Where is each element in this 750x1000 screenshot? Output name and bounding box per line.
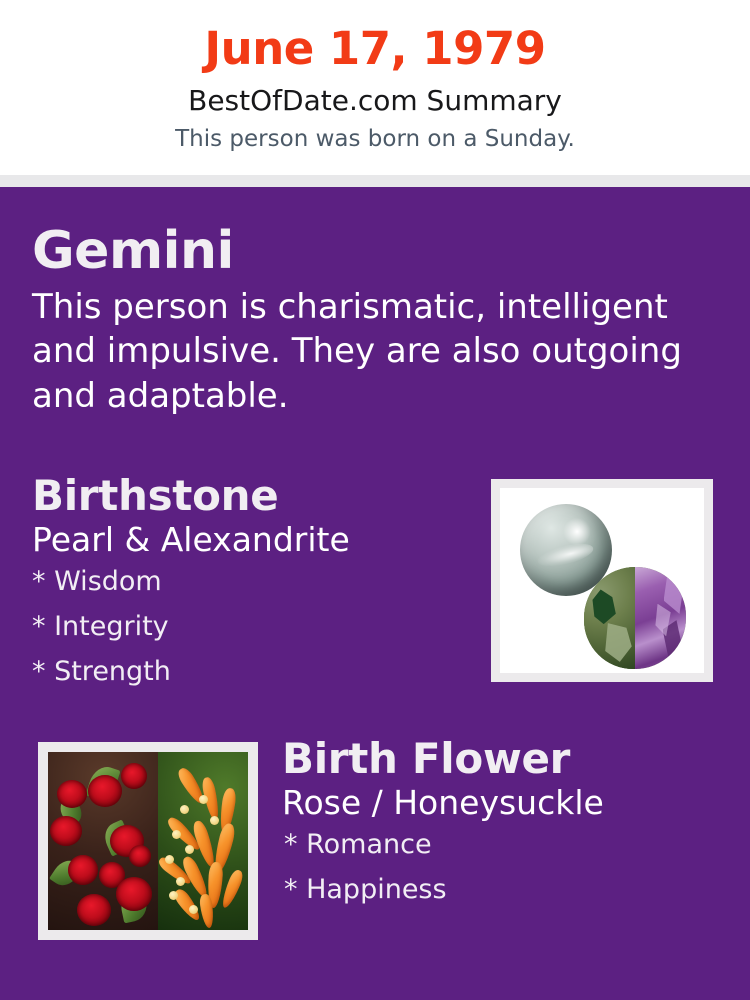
honeysuckle-bud: [180, 805, 189, 814]
summary-card: June 17, 1979 BestOfDate.com Summary Thi…: [0, 0, 750, 1000]
rose-shape: [57, 780, 87, 808]
gem-facet: [664, 575, 684, 616]
site-name: BestOfDate.com Summary: [0, 71, 750, 115]
zodiac-sign-title: Gemini: [32, 223, 712, 279]
header-divider: [0, 175, 750, 187]
birthstone-title: Birthstone: [32, 472, 472, 519]
rose-shape: [68, 855, 98, 885]
rose-shape: [116, 877, 152, 911]
birthstone-section: Birthstone Pearl & Alexandrite * Wisdom …: [32, 472, 472, 703]
page-title: June 17, 1979: [0, 0, 750, 71]
birth-flower-trait-list: * Romance * Happiness: [282, 822, 722, 921]
content-panel: Gemini This person is charismatic, intel…: [0, 187, 750, 1000]
birth-flower-title: Birth Flower: [282, 735, 722, 782]
alexandrite-icon: [584, 567, 686, 669]
list-item: * Wisdom: [32, 568, 472, 613]
birthstone-trait-list: * Wisdom * Integrity * Strength: [32, 559, 472, 703]
honeysuckle-bud: [169, 891, 178, 900]
honeysuckle-bud: [185, 845, 194, 854]
birth-flower-section: Birth Flower Rose / Honeysuckle * Romanc…: [282, 735, 722, 921]
honeysuckle-bud: [210, 816, 219, 825]
red-roses-photo: [48, 752, 158, 930]
list-item: * Strength: [32, 658, 472, 703]
birth-flower-value: Rose / Honeysuckle: [282, 782, 722, 822]
birth-flower-image: [48, 752, 248, 930]
birthstone-value: Pearl & Alexandrite: [32, 519, 472, 559]
birthstone-image: [500, 488, 704, 673]
gem-facet: [655, 604, 670, 637]
rose-shape: [129, 845, 151, 867]
header-subtitle: This person was born on a Sunday.: [0, 115, 750, 151]
orange-honeysuckle-photo: [158, 752, 248, 930]
gem-facet: [663, 620, 682, 663]
honeysuckle-tube: [219, 869, 245, 911]
list-item: * Integrity: [32, 613, 472, 658]
honeysuckle-bud: [189, 905, 198, 914]
honeysuckle-bud: [176, 877, 185, 886]
list-item: * Romance: [282, 831, 722, 876]
rose-shape: [88, 775, 122, 807]
birthstone-image-frame: [491, 479, 713, 682]
zodiac-description: This person is charismatic, intelligent …: [32, 279, 697, 418]
rose-shape: [121, 763, 147, 789]
header: June 17, 1979 BestOfDate.com Summary Thi…: [0, 0, 750, 175]
rose-shape: [50, 816, 82, 846]
zodiac-section: Gemini This person is charismatic, intel…: [32, 223, 712, 418]
list-item: * Happiness: [282, 876, 722, 921]
gem-cut-half: [635, 567, 686, 669]
birth-flower-image-frame: [38, 742, 258, 940]
rose-shape: [77, 894, 111, 926]
